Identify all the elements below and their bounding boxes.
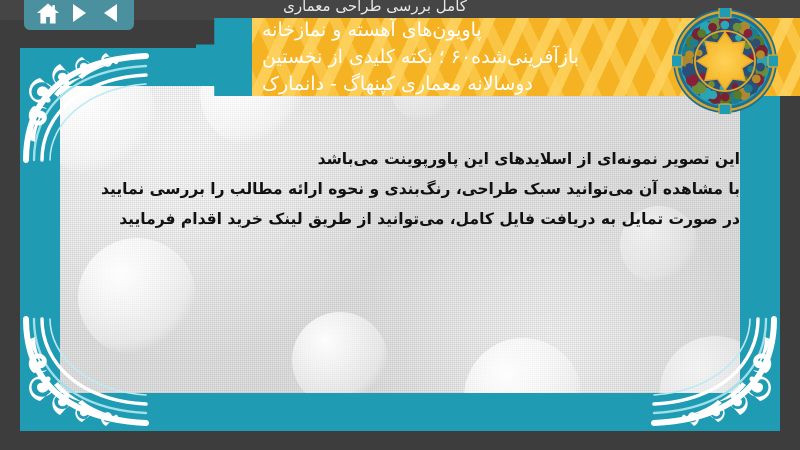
bokeh-circle (292, 312, 388, 393)
navigation-bar (24, 0, 134, 30)
banner-line-2: بازآفرینی‌شده۶۰ ؛ نکته کلیدی از نخستین (262, 44, 579, 71)
next-slide-button[interactable] (66, 0, 92, 26)
bokeh-circle (660, 336, 740, 393)
arrow-left-icon (104, 4, 117, 22)
body-line-2: با مشاهده آن می‌توانید سبک طراحی، رنگ‌بن… (80, 174, 740, 204)
home-button[interactable] (35, 0, 61, 26)
banner-line-3: دوسالانه معماری کپنهاگ - دانمارک (262, 71, 533, 97)
body-line-1: این تصویر نمونه‌ای از اسلایدهای این پاور… (80, 144, 740, 174)
medallion-ornament (672, 8, 778, 114)
previous-slide-button[interactable] (97, 0, 123, 26)
bokeh-circle (78, 238, 196, 356)
slide-viewer: کامل بررسی طراحی معماری (0, 0, 800, 450)
arrow-right-icon (73, 4, 86, 22)
home-icon (36, 2, 60, 25)
slide-canvas (60, 86, 740, 393)
banner-line-1: پاویون‌های آهسته و نمازخانه (262, 18, 482, 44)
top-strip-title: کامل بررسی طراحی معماری (165, 0, 585, 15)
slide-frame: این تصویر نمونه‌ای از اسلایدهای این پاور… (20, 48, 780, 431)
bokeh-circle (464, 338, 582, 393)
slide-body-text: این تصویر نمونه‌ای از اسلایدهای این پاور… (60, 144, 740, 234)
body-line-3: در صورت تمایل به دریافت فایل کامل، می‌تو… (80, 204, 740, 234)
